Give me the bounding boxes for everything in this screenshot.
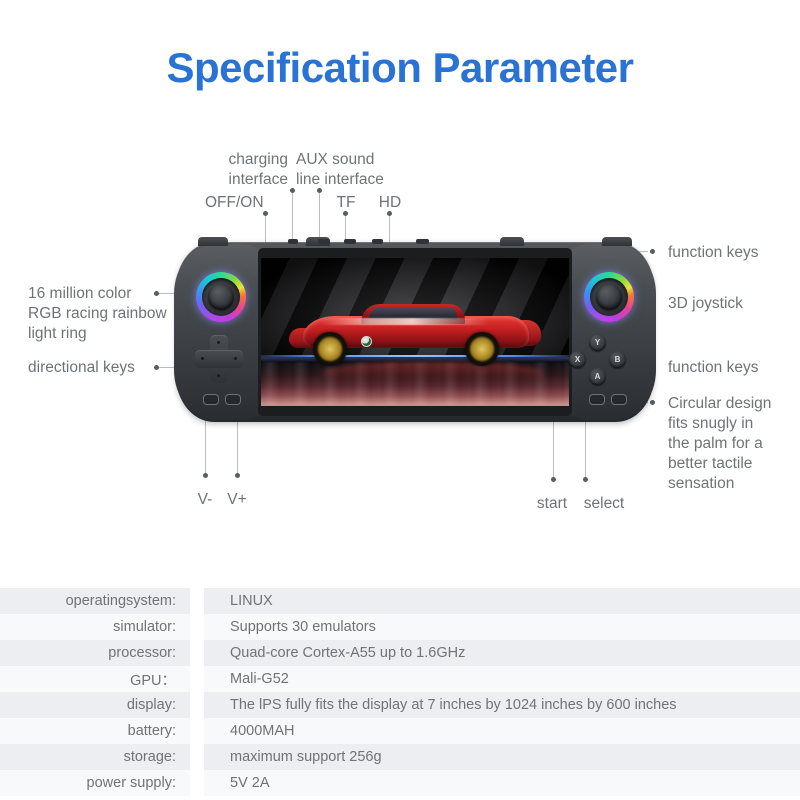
spec-key: power supply: bbox=[0, 775, 190, 791]
leader-line-start bbox=[553, 421, 554, 477]
table-row: display: The lPS fully fits the display … bbox=[0, 692, 800, 718]
spec-value: Quad-core Cortex-A55 up to 1.6GHz bbox=[204, 645, 800, 661]
column-divider bbox=[190, 588, 204, 614]
dpad-right-pip bbox=[234, 357, 237, 360]
power-switch-port[interactable] bbox=[288, 239, 298, 244]
product-spec-page: Specification Parameter charging interfa… bbox=[0, 0, 800, 800]
callout-start: start bbox=[527, 494, 577, 514]
spec-value: LINUX bbox=[204, 593, 800, 609]
callout-function-keys-top: function keys bbox=[668, 243, 798, 263]
column-divider bbox=[190, 770, 204, 796]
car-badge-icon bbox=[361, 336, 372, 347]
car-front-wheel bbox=[313, 332, 347, 366]
spec-value: 5V 2A bbox=[204, 775, 800, 791]
car-rear-wheel bbox=[465, 332, 499, 366]
shoulder-button-r2[interactable] bbox=[500, 237, 524, 246]
callout-aux-sound-line-interface: AUX sound line interface bbox=[296, 150, 426, 190]
button-a[interactable]: A bbox=[589, 368, 606, 385]
hd-output-port[interactable] bbox=[416, 239, 429, 244]
leader-dot-volume-down bbox=[203, 473, 208, 478]
button-b[interactable]: B bbox=[609, 351, 626, 368]
red-sports-car-image bbox=[289, 302, 541, 364]
select-button[interactable] bbox=[611, 394, 627, 405]
spec-value: Mali-G52 bbox=[204, 671, 800, 687]
page-title: Specification Parameter bbox=[0, 44, 800, 92]
table-row: storage: maximum support 256g bbox=[0, 744, 800, 770]
handheld-game-console: Y X B A bbox=[176, 242, 654, 422]
callout-select: select bbox=[576, 494, 632, 514]
leader-dot-volume-up bbox=[235, 473, 240, 478]
button-x[interactable]: X bbox=[569, 351, 586, 368]
column-divider bbox=[190, 744, 204, 770]
table-row: operatingsystem: LINUX bbox=[0, 588, 800, 614]
directional-pad[interactable] bbox=[195, 335, 243, 383]
spec-key: processor: bbox=[0, 645, 190, 661]
left-pill-buttons[interactable] bbox=[203, 394, 241, 405]
callout-directional-keys: directional keys bbox=[28, 358, 158, 378]
dpad-down-pip bbox=[217, 374, 220, 377]
joystick-cap[interactable] bbox=[596, 284, 622, 310]
spec-value: The lPS fully fits the display at 7 inch… bbox=[204, 697, 800, 713]
spec-key: storage: bbox=[0, 749, 190, 765]
spec-value: maximum support 256g bbox=[204, 749, 800, 765]
callout-3d-joystick: 3D joystick bbox=[668, 294, 788, 314]
leader-dot-start bbox=[551, 477, 556, 482]
table-row: simulator: Supports 30 emulators bbox=[0, 614, 800, 640]
button-y[interactable]: Y bbox=[589, 334, 606, 351]
volume-up-button[interactable] bbox=[225, 394, 241, 405]
callout-function-keys-mid: function keys bbox=[668, 358, 798, 378]
leader-dot-select bbox=[583, 477, 588, 482]
car-highlight bbox=[319, 318, 489, 325]
volume-down-button[interactable] bbox=[203, 394, 219, 405]
column-divider bbox=[190, 640, 204, 666]
shoulder-button-r[interactable] bbox=[602, 237, 632, 246]
joystick-cap[interactable] bbox=[208, 284, 234, 310]
callout-circular-design: Circular design fits snugly in the palm … bbox=[668, 394, 796, 494]
charging-interface-port[interactable] bbox=[318, 239, 330, 244]
table-row: battery: 4000MAH bbox=[0, 718, 800, 744]
spec-value: 4000MAH bbox=[204, 723, 800, 739]
spec-key: battery: bbox=[0, 723, 190, 739]
aux-sound-line-port[interactable] bbox=[344, 239, 356, 244]
callout-charging-interface: charging interface bbox=[200, 150, 288, 190]
column-divider bbox=[190, 718, 204, 744]
table-row: power supply: 5V 2A bbox=[0, 770, 800, 796]
callout-volume-up: V+ bbox=[220, 490, 254, 510]
callout-volume-down: V- bbox=[188, 490, 222, 510]
table-row: processor: Quad-core Cortex-A55 up to 1.… bbox=[0, 640, 800, 666]
column-divider bbox=[190, 666, 204, 692]
callout-off-on: OFF/ON bbox=[205, 193, 285, 213]
left-rgb-joystick[interactable] bbox=[196, 272, 246, 322]
spec-key: operatingsystem: bbox=[0, 593, 190, 609]
start-button[interactable] bbox=[589, 394, 605, 405]
right-pill-buttons[interactable] bbox=[589, 394, 627, 405]
spec-key: simulator: bbox=[0, 619, 190, 635]
spec-key: GPU： bbox=[0, 669, 190, 690]
car-reflection bbox=[323, 362, 543, 388]
tf-card-slot-port[interactable] bbox=[372, 239, 383, 244]
column-divider bbox=[190, 614, 204, 640]
screen-bezel bbox=[258, 248, 572, 416]
shoulder-button-l[interactable] bbox=[198, 237, 228, 246]
leader-line-volume-down bbox=[205, 421, 206, 473]
spec-key: display: bbox=[0, 697, 190, 713]
callout-hd: HD bbox=[375, 193, 405, 213]
display-screen[interactable] bbox=[261, 258, 569, 406]
leader-line-select bbox=[585, 421, 586, 477]
spec-value: Supports 30 emulators bbox=[204, 619, 800, 635]
dpad-left-pip bbox=[201, 357, 204, 360]
table-row: GPU： Mali-G52 bbox=[0, 666, 800, 692]
column-divider bbox=[190, 692, 204, 718]
callout-tf: TF bbox=[332, 193, 360, 213]
specification-table: operatingsystem: LINUX simulator: Suppor… bbox=[0, 588, 800, 796]
right-rgb-joystick[interactable] bbox=[584, 272, 634, 322]
dpad-up-pip bbox=[217, 341, 220, 344]
leader-line-volume-up bbox=[237, 421, 238, 473]
